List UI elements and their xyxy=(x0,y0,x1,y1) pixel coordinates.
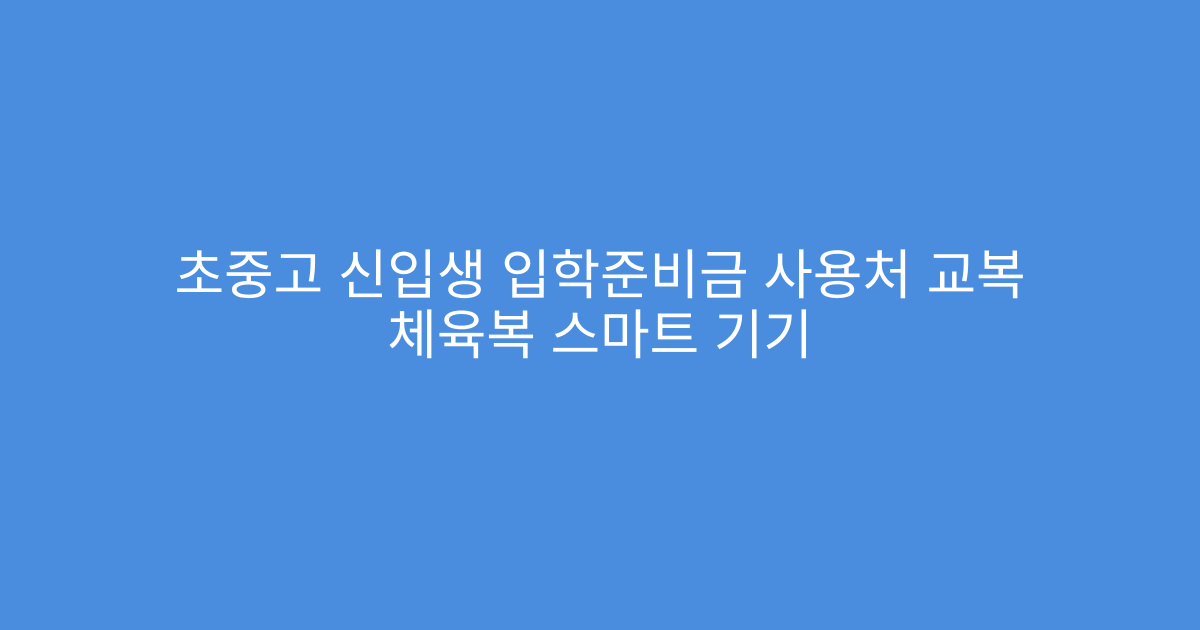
og-card: 초중고 신입생 입학준비금 사용처 교복 체육복 스마트 기기 xyxy=(0,0,1200,630)
page-title: 초중고 신입생 입학준비금 사용처 교복 체육복 스마트 기기 xyxy=(100,246,1100,366)
title-block: 초중고 신입생 입학준비금 사용처 교복 체육복 스마트 기기 xyxy=(80,246,1120,366)
